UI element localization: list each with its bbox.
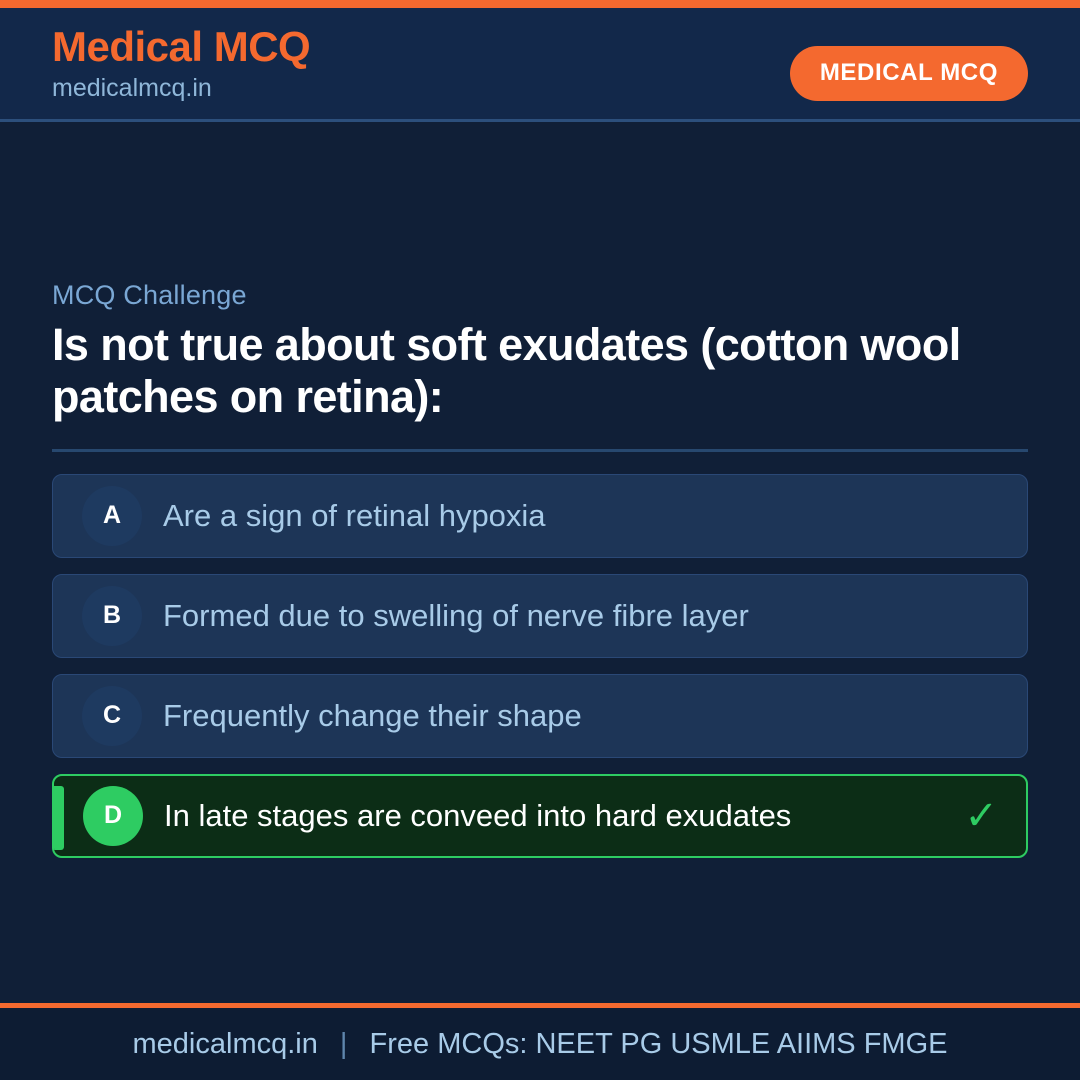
option-b[interactable]: B Formed due to swelling of nerve fibre … xyxy=(52,574,1028,658)
option-b-label: Formed due to swelling of nerve fibre la… xyxy=(163,600,749,631)
question-text: Is not true about soft exudates (cotton … xyxy=(52,319,1028,423)
footer-separator: | xyxy=(340,1028,348,1060)
option-c-letter: C xyxy=(82,686,142,746)
eyebrow-label: MCQ Challenge xyxy=(52,280,1028,311)
option-d-letter: D xyxy=(83,786,143,846)
option-a-letter: A xyxy=(82,486,142,546)
checkmark-icon: ✓ xyxy=(964,796,998,836)
option-b-letter: B xyxy=(82,586,142,646)
option-c-label: Frequently change their shape xyxy=(163,700,582,731)
question-divider xyxy=(52,449,1028,452)
option-a-label: Are a sign of retinal hypoxia xyxy=(163,500,546,531)
header-badge: MEDICAL MCQ xyxy=(790,46,1028,101)
option-d-label: In late stages are conveed into hard exu… xyxy=(164,800,791,831)
top-accent-bar xyxy=(0,0,1080,8)
brand-subtitle: medicalmcq.in xyxy=(52,73,310,103)
option-a[interactable]: A Are a sign of retinal hypoxia xyxy=(52,474,1028,558)
options-list: A Are a sign of retinal hypoxia B Formed… xyxy=(52,474,1028,858)
option-c[interactable]: C Frequently change their shape xyxy=(52,674,1028,758)
page-footer: medicalmcq.in | Free MCQs: NEET PG USMLE… xyxy=(0,1008,1080,1080)
option-d-correct[interactable]: D In late stages are conveed into hard e… xyxy=(52,774,1028,858)
footer-content: medicalmcq.in | Free MCQs: NEET PG USMLE… xyxy=(133,1028,948,1061)
correct-accent-bar xyxy=(54,786,64,850)
brand-block: Medical MCQ medicalmcq.in xyxy=(52,23,310,103)
footer-exams: Free MCQs: NEET PG USMLE AIIMS FMGE xyxy=(370,1028,948,1060)
main-content: MCQ Challenge Is not true about soft exu… xyxy=(52,280,1028,874)
brand-title: Medical MCQ xyxy=(52,23,310,71)
footer-site: medicalmcq.in xyxy=(133,1028,318,1060)
page-header: Medical MCQ medicalmcq.in MEDICAL MCQ xyxy=(0,8,1080,122)
